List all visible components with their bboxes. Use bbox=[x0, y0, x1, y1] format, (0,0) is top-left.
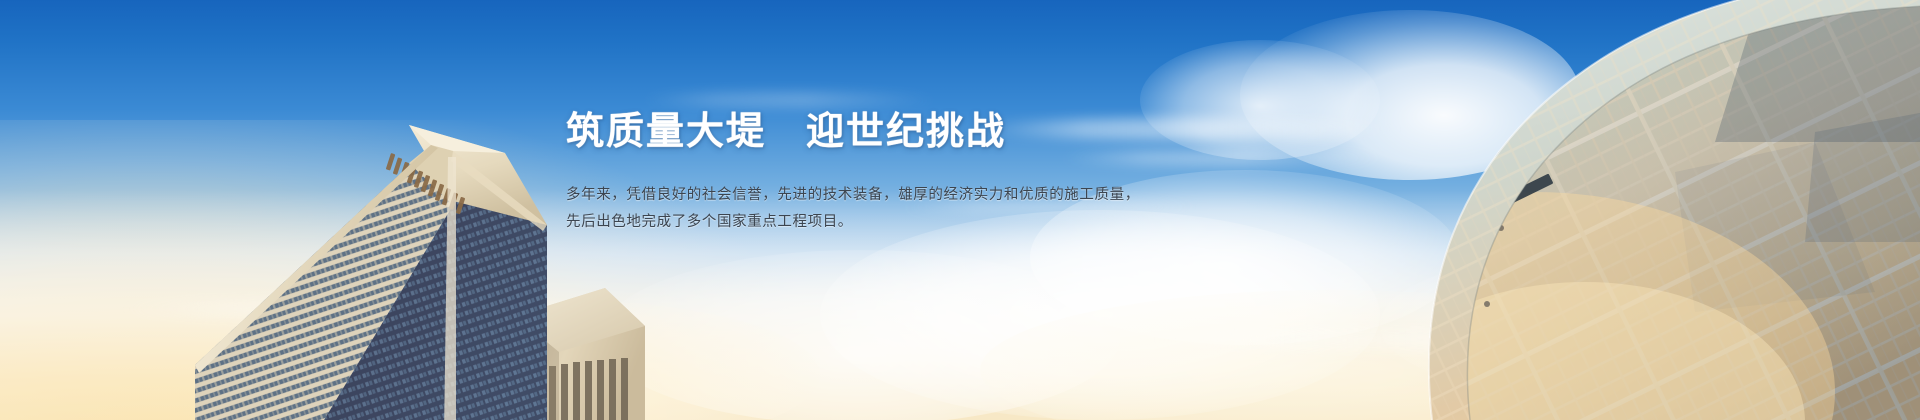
subtitle-line-1: 多年来，凭借良好的社会信誉，先进的技术装备，雄厚的经济实力和优质的施工质量， bbox=[566, 182, 1206, 209]
banner-subtitle: 多年来，凭借良好的社会信誉，先进的技术装备，雄厚的经济实力和优质的施工质量， 先… bbox=[566, 156, 1206, 236]
banner-headline: 筑质量大堤 迎世纪挑战 bbox=[566, 108, 1206, 156]
subtitle-line-2: 先后出色地完成了多个国家重点工程项目。 bbox=[566, 209, 1206, 236]
banner-copy: 筑质量大堤 迎世纪挑战 多年来，凭借良好的社会信誉，先进的技术装备，雄厚的经济实… bbox=[566, 108, 1206, 236]
primary-skyscraper bbox=[195, 105, 625, 420]
curved-glass-tower bbox=[1115, 0, 1920, 420]
cloud-wisp bbox=[640, 92, 940, 108]
hero-banner: 筑质量大堤 迎世纪挑战 多年来，凭借良好的社会信誉，先进的技术装备，雄厚的经济实… bbox=[0, 0, 1920, 420]
